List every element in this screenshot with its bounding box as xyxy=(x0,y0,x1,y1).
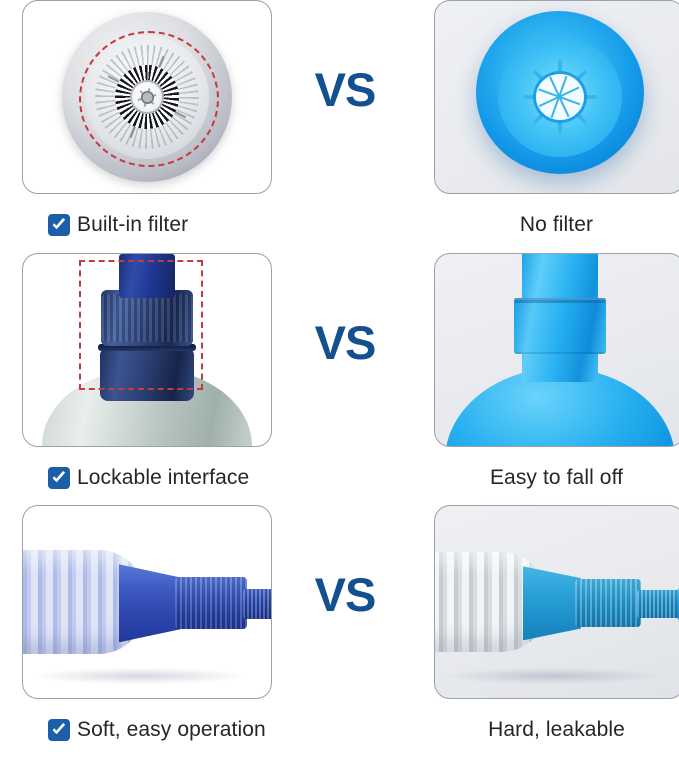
row-2-right-column: Easy to fall off xyxy=(417,253,679,494)
row-1-right-column: No filter xyxy=(417,0,679,241)
row-3-left-column: Soft, easy operation xyxy=(0,505,273,746)
caption-text: Built-in filter xyxy=(77,213,188,237)
plain-cap-artwork xyxy=(435,1,679,193)
soft-bellows-artwork xyxy=(23,506,271,698)
vs-label: VS xyxy=(315,567,376,622)
check-icon xyxy=(48,467,70,489)
caption-lockable-interface: Lockable interface xyxy=(22,462,273,494)
comparison-row-2: Lockable interface VS Easy to fall off xyxy=(0,253,679,506)
vs-label: VS xyxy=(315,315,376,370)
loose-neck-artwork xyxy=(435,254,679,446)
drop-shadow xyxy=(33,668,248,684)
caption-soft-easy-operation: Soft, easy operation xyxy=(22,714,273,746)
row-3-right-column: Hard, leakable xyxy=(417,505,679,746)
nozzle-thread xyxy=(243,589,272,619)
caption-built-in-filter: Built-in filter xyxy=(22,209,273,241)
comparison-row-3: Soft, easy operation VS Hard, leakable xyxy=(0,505,679,758)
nozzle-cone xyxy=(523,566,581,640)
slip-on-collar xyxy=(514,298,606,354)
check-icon xyxy=(48,214,70,236)
annotation-dashed-circle xyxy=(79,31,219,167)
collar-gap xyxy=(514,298,606,303)
hard-bellows-artwork xyxy=(435,506,679,698)
check-icon xyxy=(48,719,70,741)
caption-no-filter: No filter xyxy=(434,209,679,241)
caption-text: Easy to fall off xyxy=(490,466,623,490)
annotation-dashed-rect xyxy=(79,260,203,390)
caption-text: Hard, leakable xyxy=(488,718,625,742)
caption-text: No filter xyxy=(520,213,593,237)
nozzle-cone xyxy=(119,564,181,642)
row-2-left-column: Lockable interface xyxy=(0,253,273,494)
lockable-connector-artwork xyxy=(23,254,271,446)
nozzle-barrel xyxy=(175,577,247,629)
product-image-hard-leakable xyxy=(434,505,679,699)
comparison-row-1: Built-in filter VS xyxy=(0,0,679,253)
product-image-built-in-filter xyxy=(22,0,272,194)
comparison-grid: Built-in filter VS xyxy=(0,0,679,758)
filter-cap-artwork xyxy=(23,1,271,193)
row-1-left-column: Built-in filter xyxy=(0,0,273,241)
product-image-soft-easy-operation xyxy=(22,505,272,699)
nozzle-barrel xyxy=(575,579,641,627)
vs-label: VS xyxy=(315,62,376,117)
caption-text: Lockable interface xyxy=(77,466,249,490)
product-image-no-filter xyxy=(434,0,679,194)
caption-hard-leakable: Hard, leakable xyxy=(434,714,679,746)
caption-text: Soft, easy operation xyxy=(77,718,266,742)
product-image-easy-to-fall-off xyxy=(434,253,679,447)
drop-shadow xyxy=(445,668,660,684)
nozzle-thread xyxy=(637,590,679,618)
caption-easy-to-fall-off: Easy to fall off xyxy=(434,462,679,494)
product-image-lockable-interface xyxy=(22,253,272,447)
